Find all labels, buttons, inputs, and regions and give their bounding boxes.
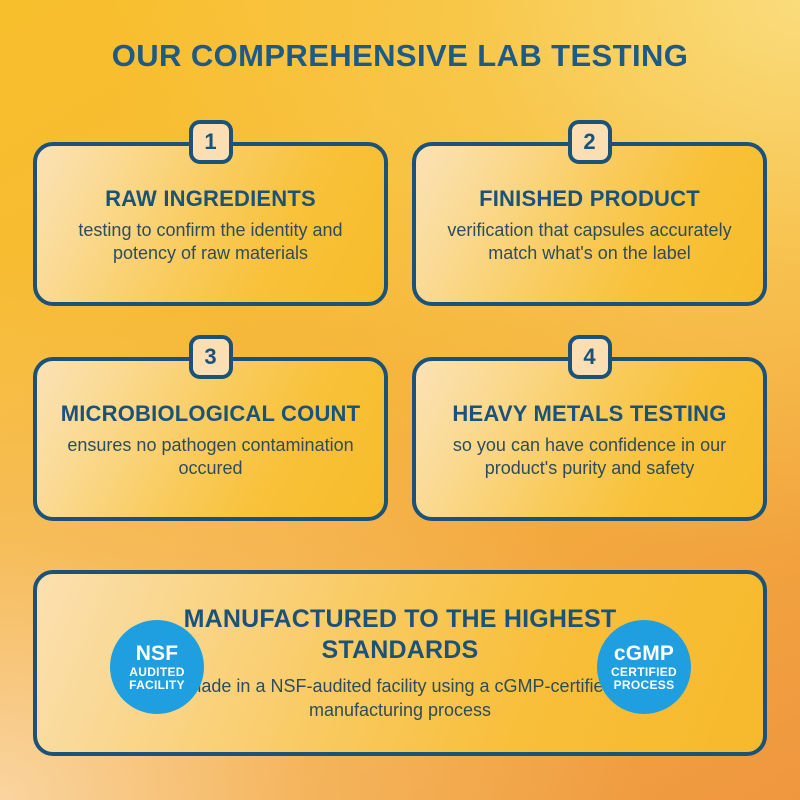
card-title-heavy-metals-testing: HEAVY METALS TESTING xyxy=(452,402,726,426)
testing-card-grid: 1 RAW INGREDIENTS testing to confirm the… xyxy=(33,142,767,521)
banner-title: MANUFACTURED TO THE HIGHEST STANDARDS xyxy=(180,604,620,666)
banner-text-block: MANUFACTURED TO THE HIGHEST STANDARDS ma… xyxy=(180,604,620,722)
infographic-root: OUR COMPREHENSIVE LAB TESTING 1 RAW INGR… xyxy=(0,0,800,800)
step-number-badge-2: 2 xyxy=(568,120,612,164)
card-body-finished-product: verification that capsules accurately ma… xyxy=(426,219,753,265)
manufacturing-standards-banner: NSF AUDITED FACILITY MANUFACTURED TO THE… xyxy=(33,570,767,756)
testing-card-3: 3 MICROBIOLOGICAL COUNT ensures no patho… xyxy=(33,357,388,521)
card-title-raw-ingredients: RAW INGREDIENTS xyxy=(105,187,316,211)
card-body-heavy-metals-testing: so you can have confidence in our produc… xyxy=(426,434,753,480)
cgmp-seal-main-label: cGMP xyxy=(614,643,674,665)
step-number-badge-1: 1 xyxy=(189,120,233,164)
nsf-seal-main-label: NSF xyxy=(136,643,179,665)
card-title-microbiological-count: MICROBIOLOGICAL COUNT xyxy=(61,402,361,426)
cgmp-seal-line2: PROCESS xyxy=(614,679,675,691)
step-number-badge-4: 4 xyxy=(568,335,612,379)
nsf-seal-line2: FACILITY xyxy=(129,679,185,691)
card-body-microbiological-count: ensures no pathogen contamination occure… xyxy=(47,434,374,480)
testing-card-1: 1 RAW INGREDIENTS testing to confirm the… xyxy=(33,142,388,306)
card-title-finished-product: FINISHED PRODUCT xyxy=(479,187,700,211)
card-body-raw-ingredients: testing to confirm the identity and pote… xyxy=(47,219,374,265)
testing-card-2: 2 FINISHED PRODUCT verification that cap… xyxy=(412,142,767,306)
step-number-badge-3: 3 xyxy=(189,335,233,379)
banner-body: made in a NSF-audited facility using a c… xyxy=(180,675,620,722)
page-title: OUR COMPREHENSIVE LAB TESTING xyxy=(0,38,800,74)
nsf-audited-facility-seal: NSF AUDITED FACILITY xyxy=(110,620,204,714)
testing-card-4: 4 HEAVY METALS TESTING so you can have c… xyxy=(412,357,767,521)
cgmp-certified-process-seal: cGMP CERTIFIED PROCESS xyxy=(597,620,691,714)
